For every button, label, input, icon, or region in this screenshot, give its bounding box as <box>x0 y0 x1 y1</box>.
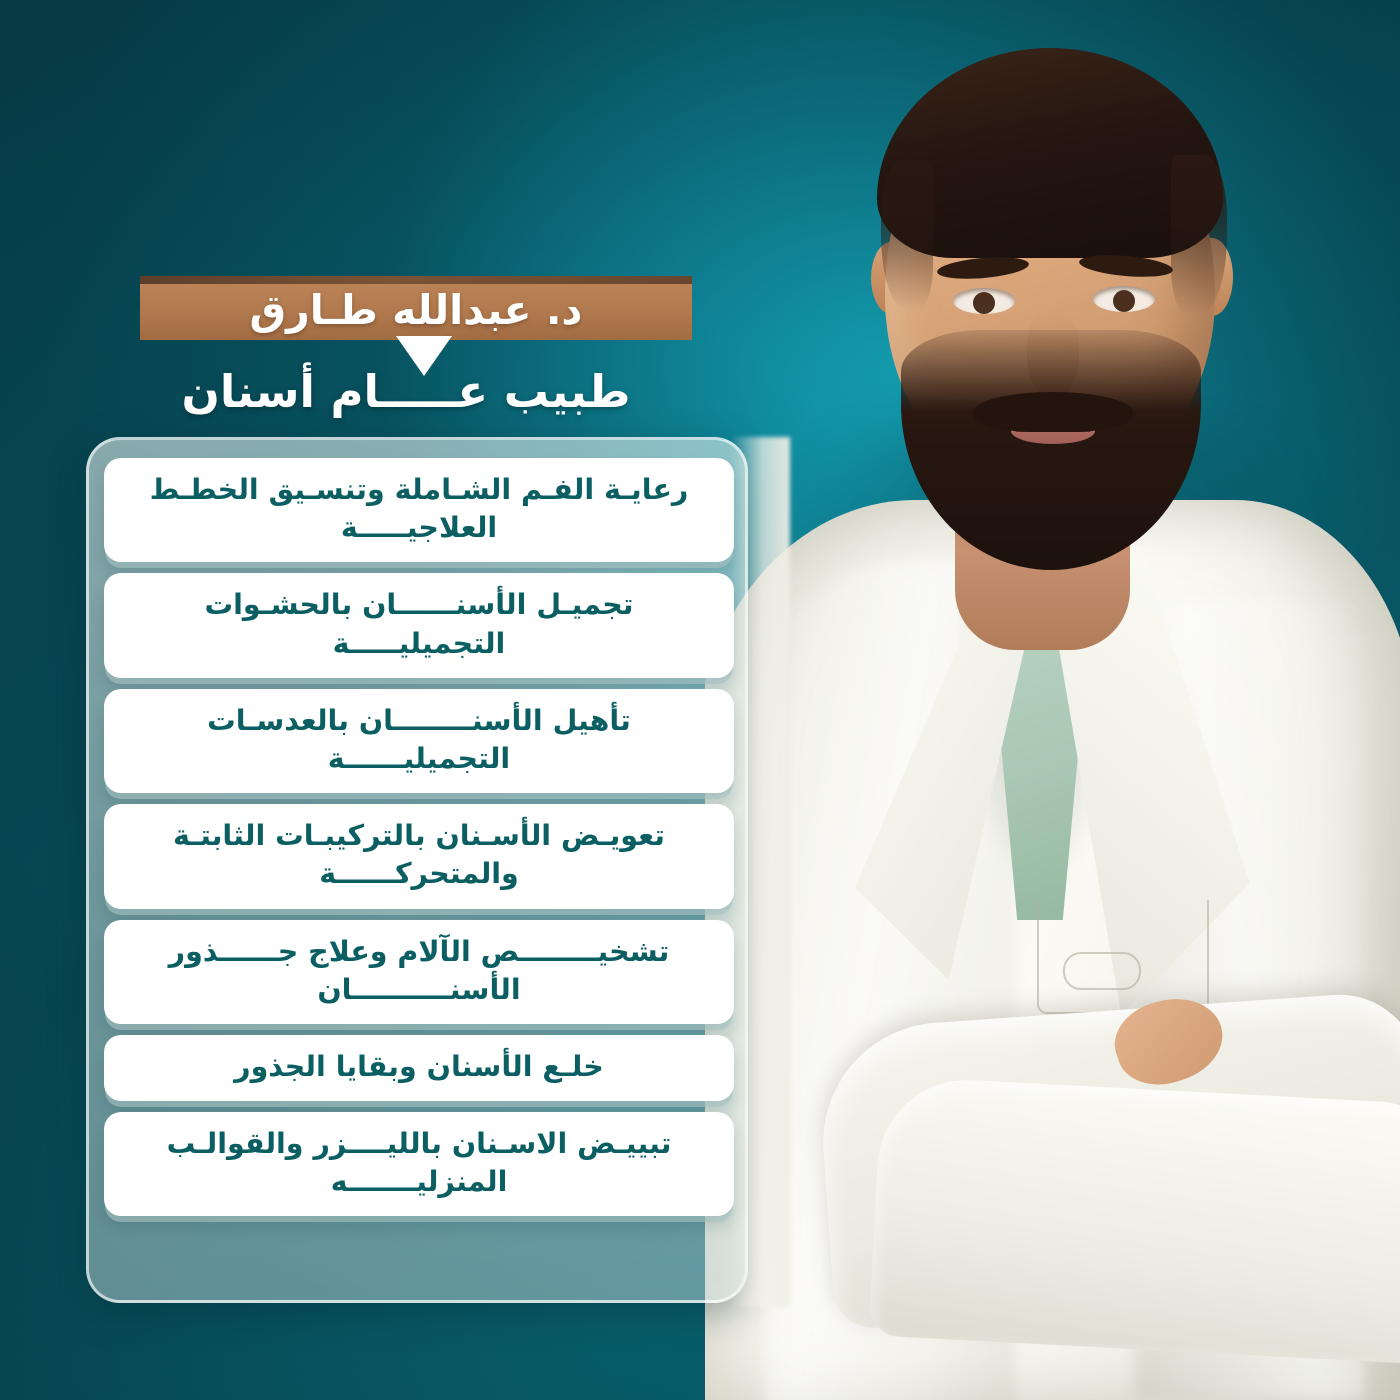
hair-side-right <box>1171 155 1227 315</box>
arm-lower <box>869 1076 1400 1365</box>
hair-side-left <box>881 160 933 310</box>
service-card-text: رعايـة الفـم الشـاملة وتنسـيق الخطـط الع… <box>130 471 708 547</box>
service-card[interactable]: تجميـل الأسنــــــان بالحشـوات التجميليـ… <box>104 573 734 677</box>
service-card[interactable]: خلـع الأسنان وبقايا الجذور <box>104 1035 734 1101</box>
pupil-left <box>973 292 995 314</box>
doctor-photo <box>705 0 1400 1400</box>
service-card[interactable]: تشخيــــــــص الآلام وعلاج جــــــذور ال… <box>104 920 734 1024</box>
services-list: رعايـة الفـم الشـاملة وتنسـيق الخطـط الع… <box>104 458 734 1216</box>
coat-pocket-badge <box>1063 952 1141 990</box>
doctor-name: د. عبدالله طـارق <box>250 290 583 335</box>
dental-promo-poster: د. عبدالله طـارق طبيب عـــــام أسنان رعا… <box>0 0 1400 1400</box>
cards-photo-overlap <box>730 437 790 1307</box>
banner-body: د. عبدالله طـارق <box>140 284 692 340</box>
service-card-text: تأهيل الأسنــــــــان بالعدسـات التجميلي… <box>130 702 708 778</box>
service-card[interactable]: رعايـة الفـم الشـاملة وتنسـيق الخطـط الع… <box>104 458 734 562</box>
service-card-text: تبييـض الاسـنان بالليــــزر والقوالـب ال… <box>130 1125 708 1201</box>
service-card[interactable]: تبييـض الاسـنان بالليــــزر والقوالـب ال… <box>104 1112 734 1216</box>
service-card-text: تشخيــــــــص الآلام وعلاج جــــــذور ال… <box>130 933 708 1009</box>
doctor-name-banner: د. عبدالله طـارق <box>140 276 692 340</box>
service-card-text: تجميـل الأسنــــــان بالحشـوات التجميليـ… <box>130 586 708 662</box>
mustache <box>973 392 1133 432</box>
service-card[interactable]: تأهيل الأسنــــــــان بالعدسـات التجميلي… <box>104 689 734 793</box>
doctor-portrait <box>705 0 1400 1400</box>
doctor-title: طبيب عـــــام أسنان <box>120 362 692 420</box>
service-card-text: خلـع الأسنان وبقايا الجذور <box>130 1048 708 1086</box>
pupil-right <box>1113 290 1135 312</box>
service-card-text: تعويـض الأسـنان بالتركيبـات الثابتـة وال… <box>130 817 708 893</box>
service-card[interactable]: تعويـض الأسـنان بالتركيبـات الثابتـة وال… <box>104 804 734 908</box>
